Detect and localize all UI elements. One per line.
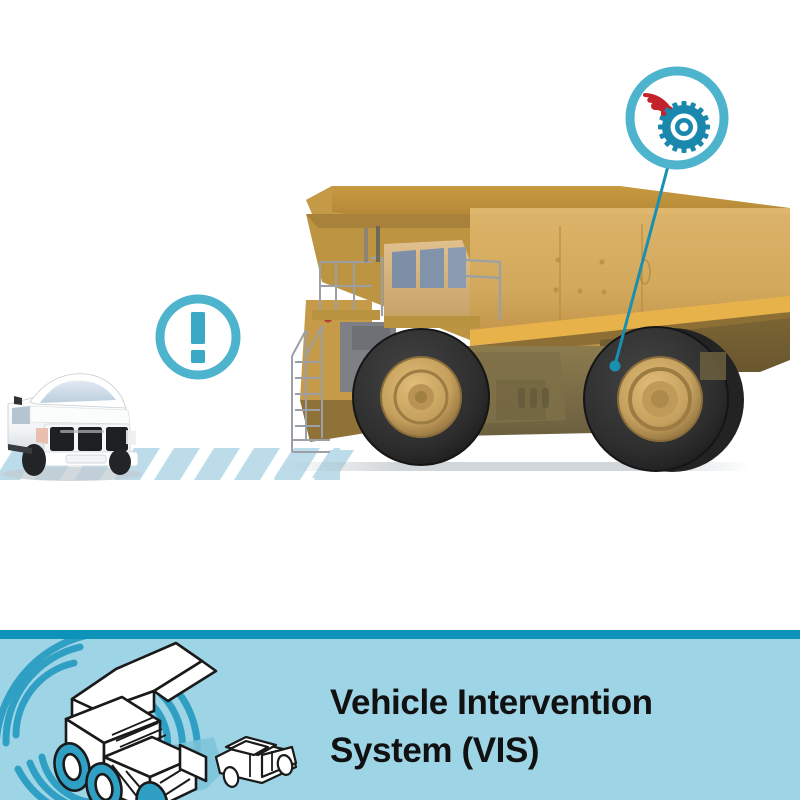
footer-band: Vehicle Intervention System (VIS) <box>0 630 800 800</box>
mining-haul-truck <box>292 186 790 472</box>
vis-infographic: Vehicle Intervention System (VIS) <box>0 0 800 800</box>
scene-illustration <box>0 0 800 632</box>
haul-truck-rear-wheel <box>584 327 744 472</box>
exclamation-alert-icon <box>160 299 236 375</box>
haul-truck-front-wheel <box>353 329 489 465</box>
brake-disc-icon <box>658 101 710 153</box>
brake-sensor-callout[interactable] <box>630 71 724 165</box>
footer-title: Vehicle Intervention System (VIS) <box>330 679 770 776</box>
vis-logo-vector <box>0 630 320 800</box>
scene-vector <box>0 0 800 632</box>
vis-isometric-logo <box>0 630 320 800</box>
logo-light-vehicle <box>216 737 296 788</box>
white-pickup-truck <box>8 374 138 476</box>
haul-truck-cab <box>384 240 480 328</box>
